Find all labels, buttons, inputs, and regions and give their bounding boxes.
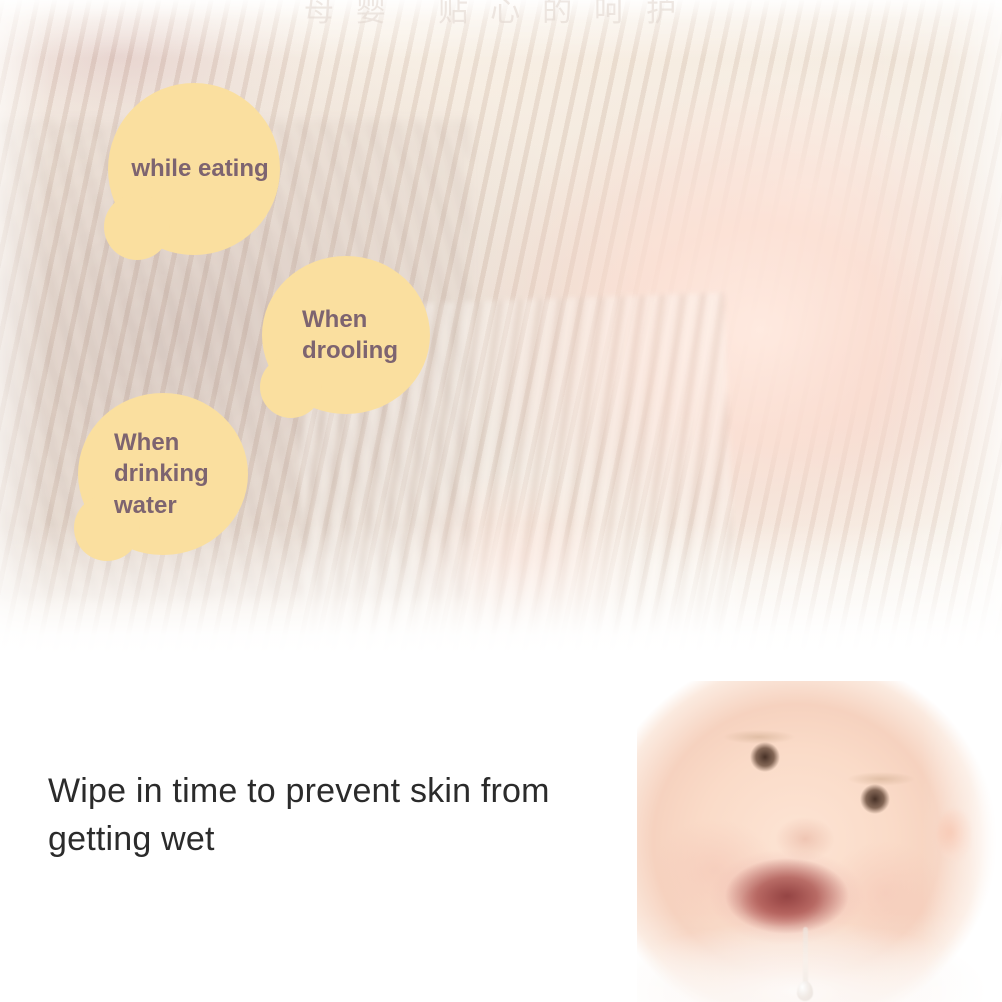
speech-bubble-when-drinking-water-label: When drinking water <box>114 427 248 521</box>
thumbnail-white-edge-fade <box>637 681 1002 1002</box>
speech-bubble-while-eating: while eating <box>108 83 280 255</box>
speech-bubble-while-eating-label: while eating <box>131 153 268 184</box>
speech-bubble-when-drooling-label: When drooling <box>302 304 430 366</box>
speech-bubble-when-drinking-water: When drinking water <box>78 393 248 555</box>
speech-bubble-when-drooling: When drooling <box>262 256 430 414</box>
hero-watermark-text: 母婴 贴心的呵护 <box>0 0 1002 30</box>
thumbnail-image <box>637 681 1002 1002</box>
caption-text: Wipe in time to prevent skin from gettin… <box>48 768 578 863</box>
product-banner-page: 母婴 贴心的呵护 while eating When drooling When… <box>0 0 1002 1002</box>
